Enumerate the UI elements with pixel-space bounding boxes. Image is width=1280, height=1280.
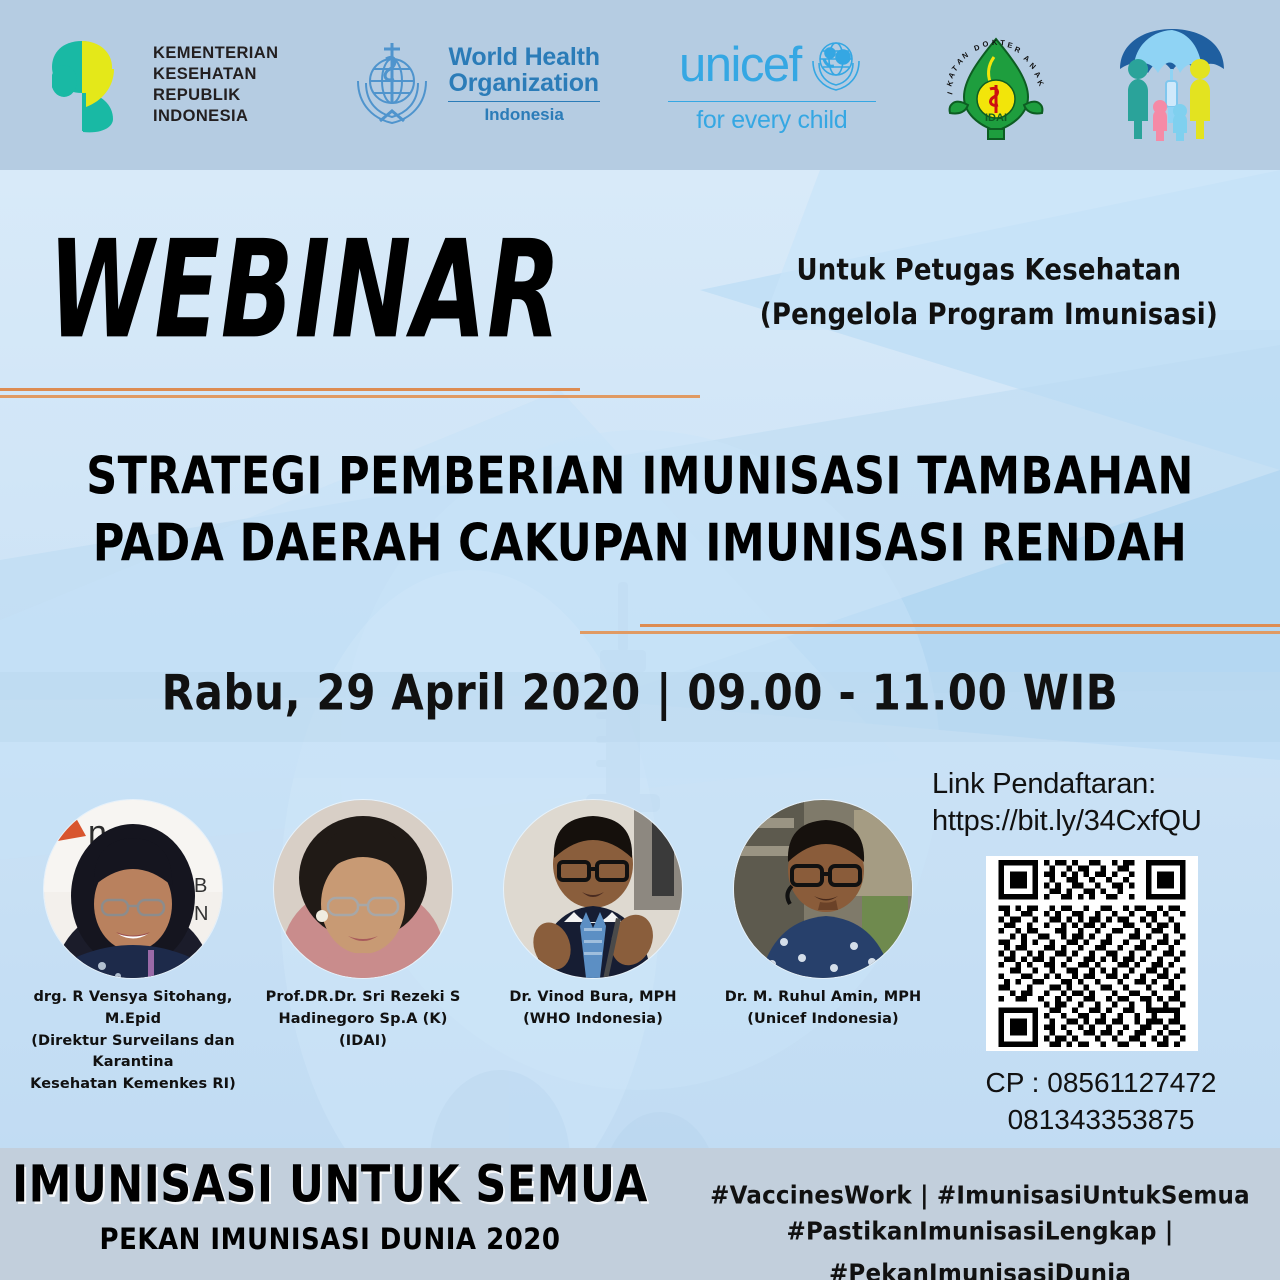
qr-code-image: [990, 860, 1194, 1047]
who-line-2: Organization: [448, 71, 599, 97]
hashtag-block: #VaccinesWork | #ImunisasiUntukSemua #Pa…: [690, 1178, 1270, 1280]
svg-text:T: T: [1000, 38, 1006, 47]
audience-line-2: (Pengelola Program Imunisasi): [760, 293, 1218, 338]
footer-slogan: IMUNISASI UNTUK SEMUA: [0, 1158, 660, 1214]
registration-url[interactable]: https://bit.ly/34CxfQU: [932, 803, 1252, 840]
speaker-photo-vensya: n e B N: [44, 800, 222, 978]
svg-text:K: K: [992, 38, 998, 47]
contact-line-2: 081343353875: [950, 1102, 1252, 1139]
svg-text:O: O: [982, 39, 989, 49]
kemenkes-line-1: KEMENTERIAN: [153, 43, 278, 64]
who-logo-text: World Health Organization Indonesia: [448, 45, 599, 125]
svg-text:E: E: [1006, 40, 1013, 50]
speaker-name-block: Dr. Vinod Bura, MPH (WHO Indonesia): [481, 987, 706, 1031]
unicef-emblem-icon: [807, 35, 865, 96]
kemenkes-line-4: INDONESIA: [153, 106, 278, 127]
speaker-name-block: drg. R Vensya Sitohang, M.Epid (Direktur…: [21, 987, 246, 1096]
divider-bottom: [580, 624, 1280, 634]
family-umbrella-logo: [1116, 25, 1228, 145]
schedule-text: Rabu, 29 April 2020 | 09.00 - 11.00 WIB: [0, 664, 1280, 721]
speaker-list: n e B N: [18, 800, 938, 1096]
svg-text:I: I: [945, 91, 954, 96]
speaker-name-line-1: drg. R Vensya Sitohang, M.Epid: [21, 987, 246, 1031]
speaker-name-line-1: Dr. Vinod Bura, MPH: [481, 987, 706, 1009]
footer-band: IMUNISASI UNTUK SEMUA PEKAN IMUNISASI DU…: [0, 1148, 1280, 1280]
webinar-topic: STRATEGI PEMBERIAN IMUNISASI TAMBAHAN PA…: [0, 444, 1280, 577]
speaker-name-line-2: (WHO Indonesia): [481, 1009, 706, 1031]
partner-logo-band: KEMENTERIAN KESEHATAN REPUBLIK INDONESIA: [0, 0, 1280, 170]
topic-line-2: PADA DAERAH CAKUPAN IMUNISASI RENDAH: [0, 504, 1280, 584]
speaker-name-line-2: Hadinegoro Sp.A (K): [251, 1009, 476, 1031]
speaker-name-block: Dr. M. Ruhul Amin, MPH (Unicef Indonesia…: [711, 987, 936, 1031]
unicef-wordmark: unicef: [679, 43, 801, 88]
unicef-logo: unicef for: [668, 35, 876, 136]
registration-block: Link Pendaftaran: https://bit.ly/34CxfQU: [932, 766, 1252, 1139]
kemenkes-line-3: REPUBLIK: [153, 85, 278, 106]
speaker-photo-sri-rezeki: [274, 800, 452, 978]
svg-text:K: K: [1035, 78, 1046, 88]
svg-text:IDAI: IDAI: [985, 112, 1007, 124]
speaker-card: Prof.DR.Dr. Sri Rezeki S Hadinegoro Sp.A…: [251, 800, 476, 1052]
webinar-poster: KEMENTERIAN KESEHATAN REPUBLIK INDONESIA: [0, 0, 1280, 1280]
speaker-photo-vinod-bura: [504, 800, 682, 978]
contact-line-1: CP : 08561127472: [950, 1065, 1252, 1102]
svg-text:D: D: [973, 42, 981, 52]
kemenkes-logo: KEMENTERIAN KESEHATAN REPUBLIK INDONESIA: [52, 35, 278, 135]
who-country: Indonesia: [448, 105, 599, 125]
svg-text:N: N: [1028, 61, 1038, 71]
svg-text:K: K: [945, 79, 956, 88]
who-emblem-icon: [346, 37, 438, 134]
kemenkes-line-2: KESEHATAN: [153, 64, 278, 85]
registration-label: Link Pendaftaran:: [932, 766, 1252, 803]
kemenkes-logo-text: KEMENTERIAN KESEHATAN REPUBLIK INDONESIA: [153, 43, 278, 126]
unicef-tagline: for every child: [696, 106, 847, 135]
svg-text:A: A: [1022, 53, 1032, 64]
speaker-name-line-3: Kesehatan Kemenkes RI): [21, 1074, 246, 1096]
speaker-name-line-2: (Direktur Surveilans dan Karantina: [21, 1031, 246, 1075]
svg-text:N: N: [194, 903, 208, 925]
speaker-card: Dr. Vinod Bura, MPH (WHO Indonesia): [481, 800, 706, 1031]
contact-block: CP : 08561127472 081343353875: [932, 1065, 1252, 1139]
page-title: WEBINAR: [48, 222, 562, 357]
idai-logo: IDAI I K A T A N D O K T E R A N A: [944, 29, 1048, 141]
family-umbrella-icon: [1116, 25, 1228, 145]
who-line-1: World Health: [448, 45, 599, 71]
kemenkes-mark-icon: [52, 35, 140, 135]
speaker-photo-ruhul-amin: [734, 800, 912, 978]
who-divider: [448, 101, 599, 103]
hashtag-line-2: #PastikanImunisasiLengkap | #PekanImunis…: [690, 1212, 1270, 1280]
speaker-name-line-2: (Unicef Indonesia): [711, 1009, 936, 1031]
who-logo: World Health Organization Indonesia: [346, 37, 599, 134]
qr-code-registration[interactable]: [986, 856, 1198, 1051]
svg-text:N: N: [960, 50, 969, 61]
speaker-name-line-1: Dr. M. Ruhul Amin, MPH: [711, 987, 936, 1009]
divider-top: [0, 388, 700, 398]
speaker-name-line-3: (IDAI): [251, 1031, 476, 1053]
footer-slogan-block: IMUNISASI UNTUK SEMUA PEKAN IMUNISASI DU…: [0, 1162, 660, 1255]
idai-emblem-icon: IDAI I K A T A N D O K T E R A N A: [944, 29, 1048, 141]
speaker-name-block: Prof.DR.Dr. Sri Rezeki S Hadinegoro Sp.A…: [251, 987, 476, 1052]
audience-line-1: Untuk Petugas Kesehatan: [760, 248, 1218, 293]
svg-text:R: R: [1013, 45, 1022, 56]
footer-event: PEKAN IMUNISASI DUNIA 2020: [0, 1223, 660, 1257]
svg-text:B: B: [194, 875, 207, 897]
speaker-card: n e B N: [21, 800, 246, 1096]
unicef-divider: [668, 101, 876, 103]
speaker-name-line-1: Prof.DR.Dr. Sri Rezeki S: [251, 987, 476, 1009]
speaker-card: Dr. M. Ruhul Amin, MPH (Unicef Indonesia…: [711, 800, 936, 1031]
audience-note: Untuk Petugas Kesehatan (Pengelola Progr…: [760, 248, 1218, 338]
